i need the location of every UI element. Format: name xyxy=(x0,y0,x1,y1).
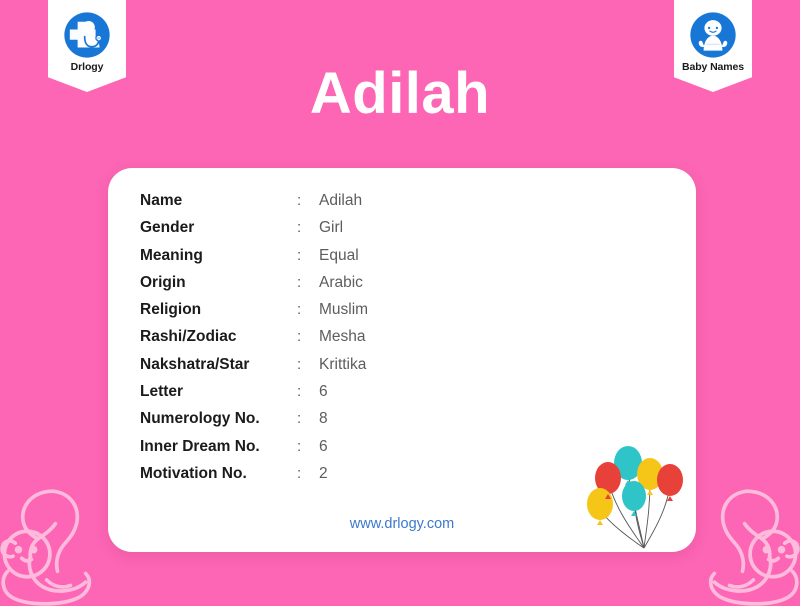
table-row: Gender : Girl xyxy=(140,219,368,246)
drlogy-doctor-logo-icon: P xyxy=(62,10,112,60)
svg-text:P: P xyxy=(97,36,100,41)
table-row: Numerology No. : 8 xyxy=(140,410,368,437)
row-value: Arabic xyxy=(319,274,363,292)
drlogy-badge-label: Drlogy xyxy=(48,62,126,73)
row-value: 6 xyxy=(319,383,328,401)
row-label: Name xyxy=(140,192,297,210)
baby-names-badge[interactable]: Baby Names xyxy=(674,0,752,92)
row-separator: : xyxy=(297,274,319,291)
row-separator: : xyxy=(297,301,319,318)
row-label: Motivation No. xyxy=(140,465,297,483)
row-separator: : xyxy=(297,410,319,427)
row-value: Muslim xyxy=(319,301,368,319)
row-separator: : xyxy=(297,356,319,373)
table-row: Motivation No. : 2 xyxy=(140,465,368,492)
name-details-card: Name : Adilah Gender : Girl Meaning : Eq… xyxy=(108,168,696,552)
mother-and-baby-icon xyxy=(684,476,800,606)
row-value: 8 xyxy=(319,410,328,428)
balloons-icon xyxy=(584,436,692,552)
row-label: Nakshatra/Star xyxy=(140,356,297,374)
table-row: Letter : 6 xyxy=(140,383,368,410)
mother-and-baby-icon xyxy=(0,476,116,606)
row-label: Numerology No. xyxy=(140,410,297,428)
table-row: Rashi/Zodiac : Mesha xyxy=(140,328,368,355)
row-label: Gender xyxy=(140,219,297,237)
table-row: Meaning : Equal xyxy=(140,247,368,274)
row-value: Girl xyxy=(319,219,343,237)
row-label: Inner Dream No. xyxy=(140,438,297,456)
table-row: Origin : Arabic xyxy=(140,274,368,301)
row-separator: : xyxy=(297,328,319,345)
row-value: Mesha xyxy=(319,328,366,346)
row-value: Adilah xyxy=(319,192,362,210)
row-value: 2 xyxy=(319,465,328,483)
row-label: Origin xyxy=(140,274,297,292)
website-link[interactable]: www.drlogy.com xyxy=(108,516,696,532)
name-details-table: Name : Adilah Gender : Girl Meaning : Eq… xyxy=(140,192,368,492)
table-row: Nakshatra/Star : Krittika xyxy=(140,356,368,383)
row-separator: : xyxy=(297,219,319,236)
baby-names-badge-label: Baby Names xyxy=(674,62,752,73)
row-value: 6 xyxy=(319,438,328,456)
baby-names-badge-body[interactable]: Baby Names xyxy=(674,0,752,92)
table-row: Name : Adilah xyxy=(140,192,368,219)
row-separator: : xyxy=(297,383,319,400)
row-label: Letter xyxy=(140,383,297,401)
row-label: Religion xyxy=(140,301,297,319)
table-row: Inner Dream No. : 6 xyxy=(140,438,368,465)
drlogy-badge[interactable]: P Drlogy xyxy=(48,0,126,92)
row-separator: : xyxy=(297,192,319,209)
row-separator: : xyxy=(297,247,319,264)
row-label: Rashi/Zodiac xyxy=(140,328,297,346)
row-value: Krittika xyxy=(319,356,366,374)
row-separator: : xyxy=(297,465,319,482)
row-label: Meaning xyxy=(140,247,297,265)
table-row: Religion : Muslim xyxy=(140,301,368,328)
drlogy-badge-body[interactable]: P Drlogy xyxy=(48,0,126,92)
baby-logo-icon xyxy=(688,10,738,60)
row-separator: : xyxy=(297,438,319,455)
row-value: Equal xyxy=(319,247,359,265)
